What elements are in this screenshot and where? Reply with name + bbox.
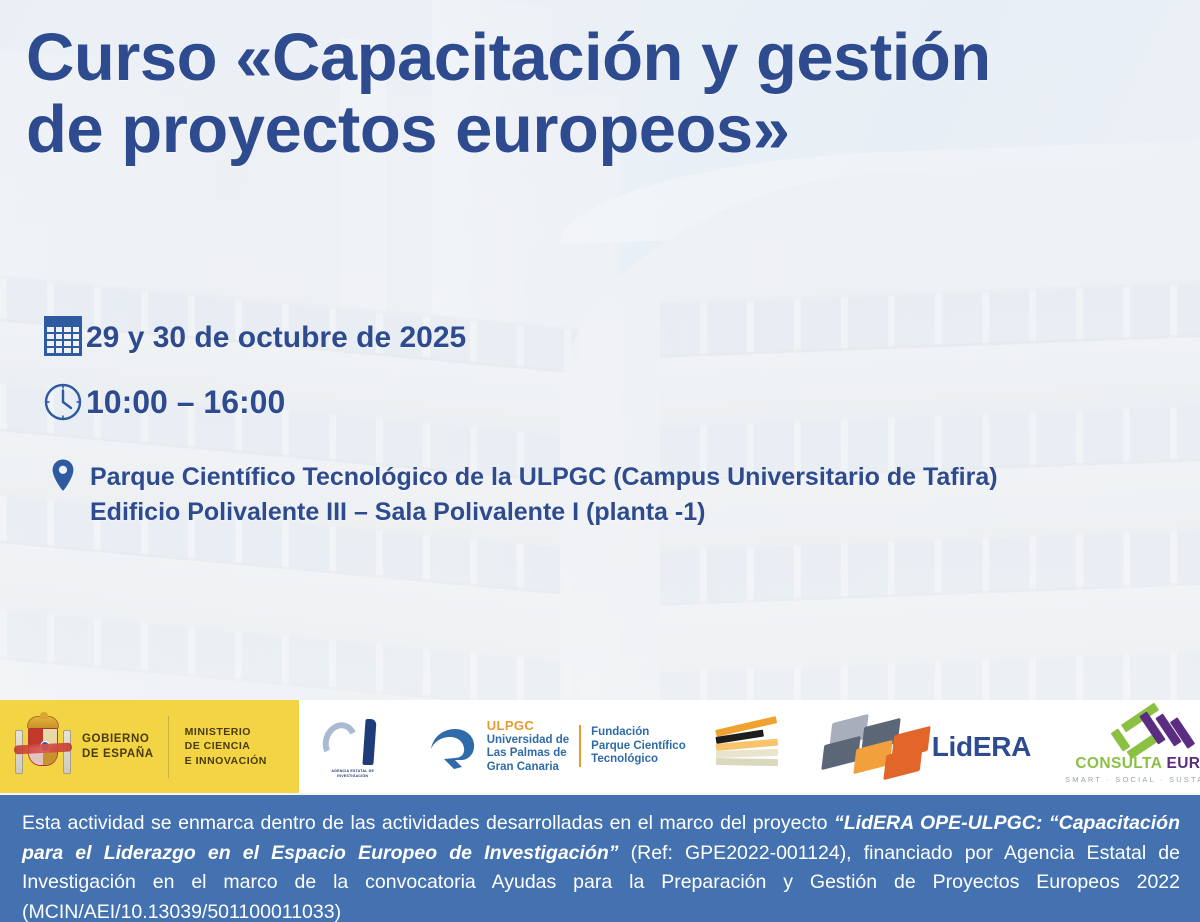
ministerio-label: MINISTERIO DE CIENCIA E INNOVACIÓN: [185, 725, 267, 768]
clock-icon: [40, 382, 86, 422]
event-date: 29 y 30 de octubre de 2025: [86, 316, 466, 354]
event-details: 29 y 30 de octubre de 2025 10:00 – 16:00: [40, 316, 1190, 529]
aei-i-mark-icon: [362, 719, 376, 765]
event-time: 10:00 – 16:00: [86, 382, 285, 420]
gobierno-espana-logo: GOBIERNO DE ESPAÑA MINISTERIO DE CIENCIA…: [0, 700, 299, 793]
ulpgc-acronym: ULPGC: [487, 718, 569, 733]
page-title: Curso «Capacitación y gestión de proyect…: [26, 22, 1176, 167]
lidera-logo: LidERA: [820, 716, 1031, 778]
location-line-2: Edificio Polivalente III – Sala Polivale…: [90, 495, 998, 530]
location-line-1: Parque Científico Tecnológico de la ULPG…: [90, 460, 998, 495]
aei-logo: AGENCIA ESTATAL DE INVESTIGACIÓN: [317, 716, 387, 778]
sponsor-logo-bar: GOBIERNO DE ESPAÑA MINISTERIO DE CIENCIA…: [0, 700, 1200, 793]
gobierno-label: GOBIERNO DE ESPAÑA: [82, 732, 154, 761]
ulpgc-fpct-logo: ULPGC Universidad de Las Palmas de Gran …: [427, 718, 686, 774]
ministerio-line-2: DE CIENCIA: [185, 739, 267, 753]
footer-part-1: Esta actividad se enmarca dentro de las …: [22, 812, 834, 834]
gobierno-line-2: DE ESPAÑA: [82, 747, 154, 762]
title-line-2: de proyectos europeos»: [26, 94, 1176, 166]
lidera-diamonds-icon: [820, 716, 926, 778]
ulpgc-divider: [579, 725, 581, 767]
aei-caption: AGENCIA ESTATAL DE INVESTIGACIÓN: [325, 769, 381, 780]
calendar-icon: [40, 316, 86, 356]
yellow-divider: [168, 716, 169, 778]
detail-row-date: 29 y 30 de octubre de 2025: [40, 316, 1190, 356]
consulta-europa-mark-icon: [1114, 709, 1196, 753]
title-line-1: Curso «Capacitación y gestión: [26, 22, 1176, 94]
ministerio-line-1: MINISTERIO: [185, 725, 267, 739]
partner-logos: AGENCIA ESTATAL DE INVESTIGACIÓN ULPGC U…: [299, 700, 1200, 793]
ulpgc-swirl-icon: [427, 723, 479, 769]
location-pin-icon: [40, 458, 86, 496]
fundacion-line-1: Fundación: [591, 726, 686, 740]
ulpgc-line-3: Gran Canaria: [487, 761, 569, 775]
fan-stack-icon: [714, 724, 784, 770]
ministerio-line-3: E INNOVACIÓN: [185, 754, 267, 768]
event-location: Parque Científico Tecnológico de la ULPG…: [90, 458, 998, 529]
aei-e-mark-icon: [317, 717, 362, 766]
gobierno-line-1: GOBIERNO: [82, 732, 154, 747]
ulpgc-textblock: ULPGC Universidad de Las Palmas de Gran …: [487, 718, 686, 774]
consulta-word: CONSULTA: [1075, 755, 1166, 772]
fundacion-line-3: Tecnológico: [591, 753, 686, 767]
detail-row-time: 10:00 – 16:00: [40, 382, 1190, 422]
spain-coat-of-arms-icon: [14, 714, 72, 780]
funding-disclaimer-footer: Esta actividad se enmarca dentro de las …: [0, 795, 1200, 922]
ulpgc-line-2: Las Palmas de: [487, 747, 569, 761]
consulta-europa-logo: CONSULTA EUROPA SMART · SOCIAL · SUSTAIN…: [1065, 709, 1200, 784]
poster-root: Curso «Capacitación y gestión de proyect…: [0, 0, 1200, 922]
consulta-europa-tagline: SMART · SOCIAL · SUSTAINABLE: [1065, 775, 1200, 784]
ulpgc-university-name: ULPGC Universidad de Las Palmas de Gran …: [487, 718, 569, 774]
fundacion-line-2: Parque Científico: [591, 740, 686, 754]
fundacion-name: Fundación Parque Científico Tecnológico: [591, 726, 686, 767]
detail-row-location: Parque Científico Tecnológico de la ULPG…: [40, 458, 1190, 529]
europa-word: EUROPA: [1166, 755, 1200, 772]
ulpgc-line-1: Universidad de: [487, 734, 569, 748]
lidera-wordmark: LidERA: [932, 731, 1031, 763]
